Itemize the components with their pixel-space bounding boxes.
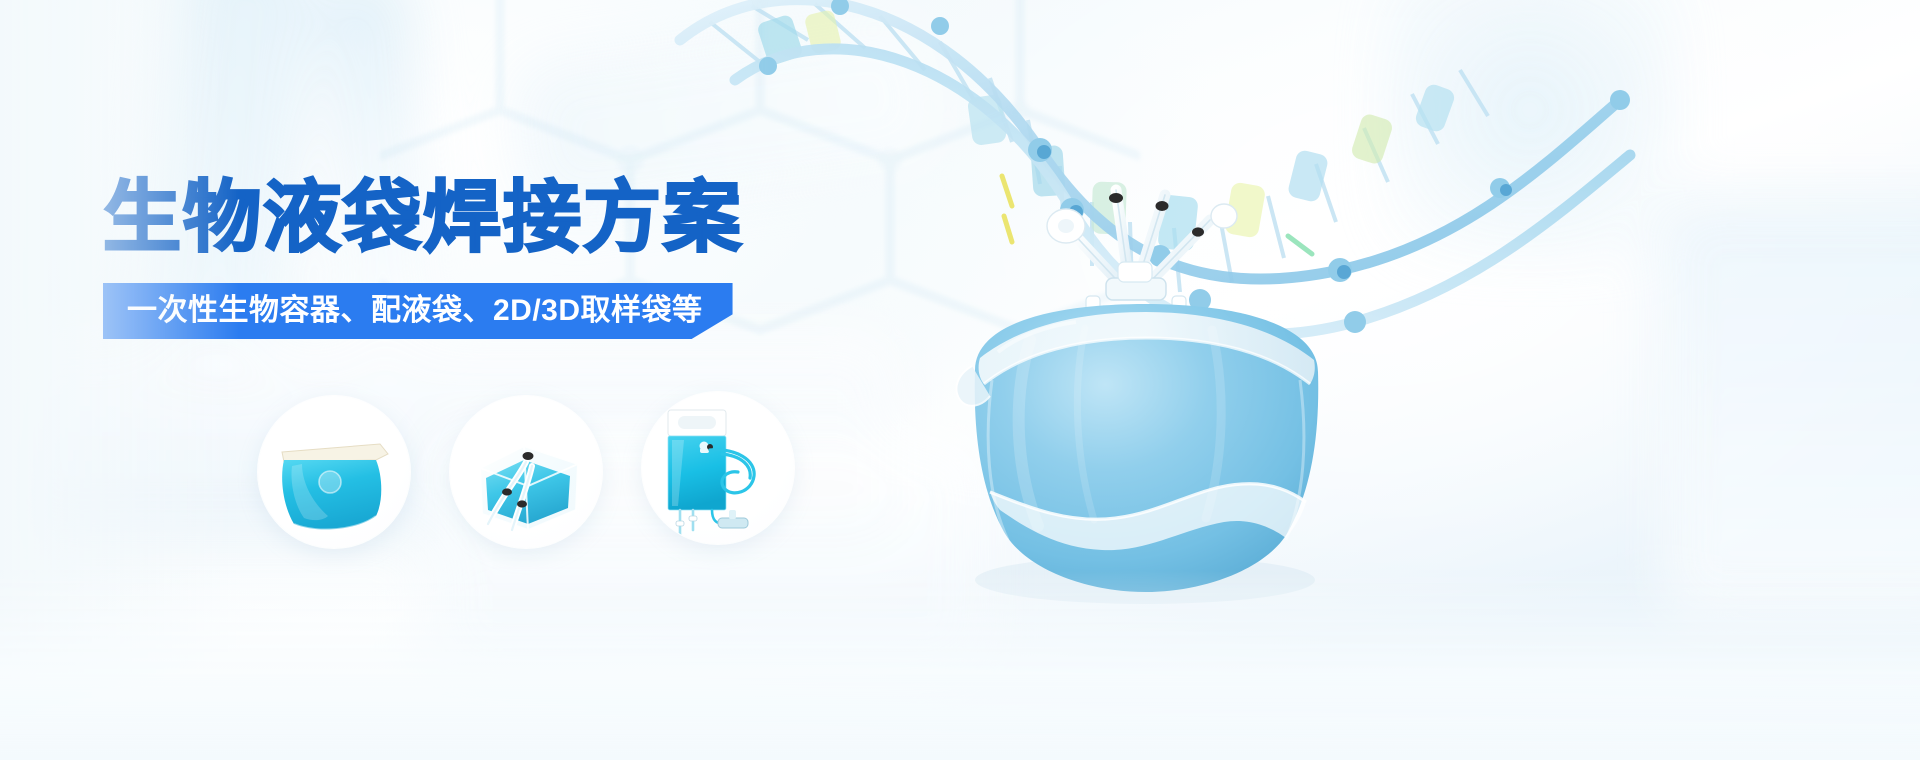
bioprocess-bag-icon (880, 40, 1400, 620)
product-thumbnail-group (258, 392, 818, 552)
subtitle-ribbon: 一次性生物容器、配液袋、2D/3D取样袋等 (103, 283, 733, 339)
product-thumbnail-3d-bag[interactable] (450, 396, 602, 548)
page-title: 生物液袋焊接方案 (103, 178, 743, 256)
pillow-bag-icon (272, 430, 396, 534)
product-thumbnail-2d-bag[interactable] (258, 396, 410, 548)
promotional-banner: 生物液袋焊接方案 一次性生物容器、配液袋、2D/3D取样袋等 (0, 0, 1920, 760)
product-thumbnail-sampling-bag[interactable] (642, 392, 794, 544)
sampling-bag-icon (660, 402, 778, 544)
subtitle-text: 一次性生物容器、配液袋、2D/3D取样袋等 (127, 296, 703, 326)
cube-bag-icon (462, 426, 592, 538)
